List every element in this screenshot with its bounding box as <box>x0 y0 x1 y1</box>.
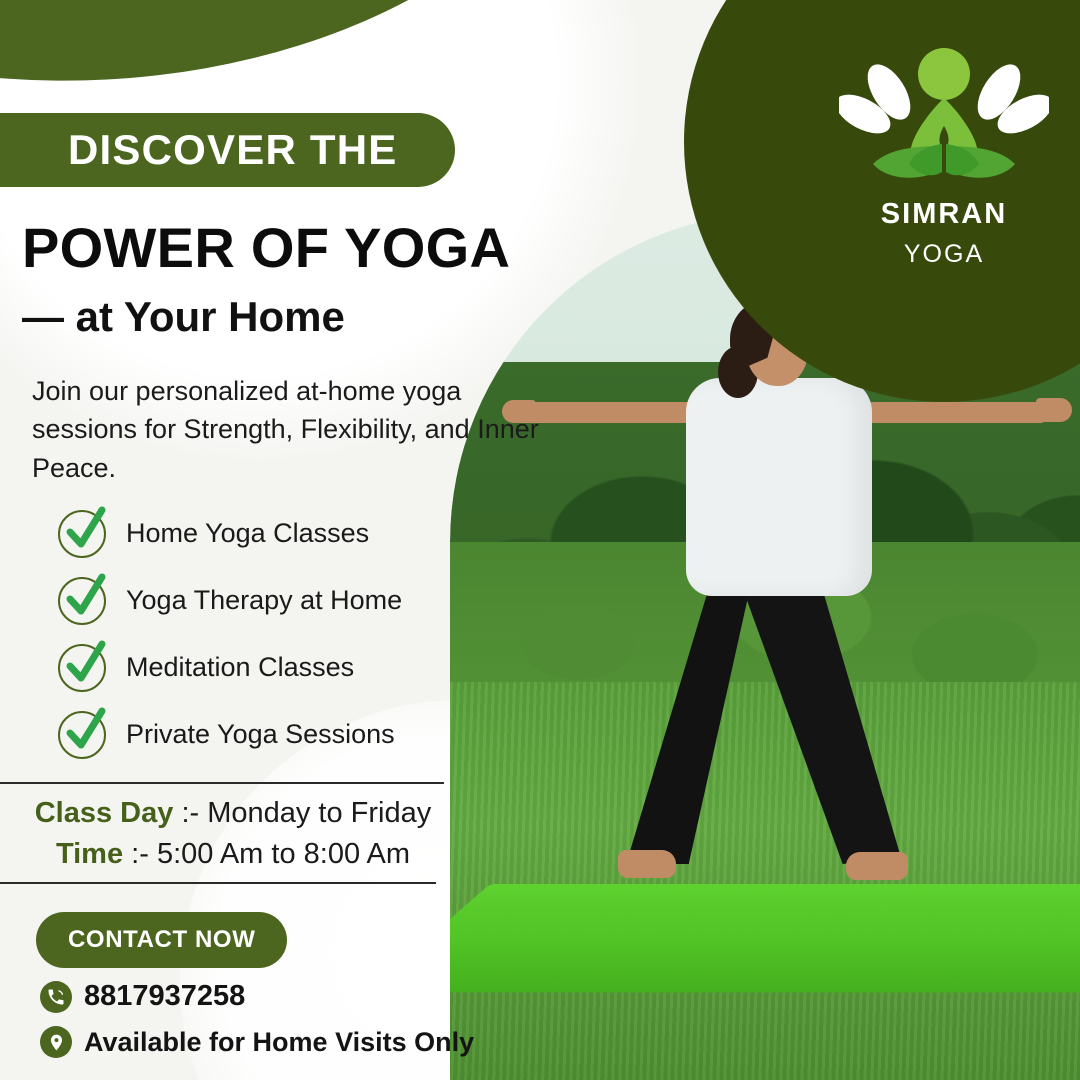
page-subtitle: — at Your Home <box>22 293 345 341</box>
phone-call-icon <box>40 981 72 1013</box>
right-arm <box>854 402 1050 423</box>
schedule-day-value: :- Monday to Friday <box>181 797 431 829</box>
brand-name: SIMRAN <box>684 198 1080 231</box>
divider-bottom <box>0 882 436 884</box>
feature-label: Home Yoga Classes <box>126 518 369 549</box>
map-pin-icon <box>40 1026 72 1058</box>
schedule-time-row: Time :- 5:00 Am to 8:00 Am <box>18 834 448 875</box>
check-circle-icon <box>58 711 106 759</box>
right-leg <box>736 564 908 864</box>
hero-description: Join our personalized at-home yoga sessi… <box>32 372 542 487</box>
contact-now-label: CONTACT NOW <box>68 926 255 954</box>
list-item: Yoga Therapy at Home <box>58 567 528 634</box>
phone-number: 8817937258 <box>84 980 245 1013</box>
contact-now-button[interactable]: CONTACT NOW <box>36 912 287 968</box>
phone-row[interactable]: 8817937258 <box>40 980 245 1013</box>
check-circle-icon <box>58 577 106 625</box>
feature-label: Private Yoga Sessions <box>126 719 395 750</box>
right-foot <box>846 852 908 880</box>
availability-text: Available for Home Visits Only <box>84 1027 474 1058</box>
feature-label: Meditation Classes <box>126 652 354 683</box>
list-item: Private Yoga Sessions <box>58 701 528 768</box>
divider-top <box>0 782 444 784</box>
page-title: POWER OF YOGA <box>22 215 510 280</box>
check-circle-icon <box>58 510 106 558</box>
brand-tagline: YOGA <box>684 240 1080 269</box>
kicker-text: DISCOVER THE <box>68 126 397 174</box>
schedule-time-label: Time <box>56 838 123 870</box>
kicker-banner: DISCOVER THE <box>0 113 455 187</box>
schedule-day-label: Class Day <box>35 797 174 829</box>
schedule-block: Class Day :- Monday to Friday Time :- 5:… <box>18 793 448 875</box>
right-hand <box>1036 398 1072 422</box>
check-circle-icon <box>58 644 106 692</box>
feature-label: Yoga Therapy at Home <box>126 585 402 616</box>
poster-canvas: SIMRAN YOGA DISCOVER THE POWER OF YOGA —… <box>0 0 1080 1080</box>
feature-list: Home Yoga Classes Yoga Therapy at Home M… <box>58 500 528 768</box>
content-column: DISCOVER THE POWER OF YOGA — at Your Hom… <box>0 0 640 1080</box>
torso-tshirt <box>686 378 872 596</box>
list-item: Home Yoga Classes <box>58 500 528 567</box>
list-item: Meditation Classes <box>58 634 528 701</box>
lotus-meditation-logo-icon <box>839 40 1049 190</box>
availability-row: Available for Home Visits Only <box>40 1026 474 1058</box>
schedule-time-value: :- 5:00 Am to 8:00 Am <box>131 838 410 870</box>
schedule-day-row: Class Day :- Monday to Friday <box>18 793 448 834</box>
